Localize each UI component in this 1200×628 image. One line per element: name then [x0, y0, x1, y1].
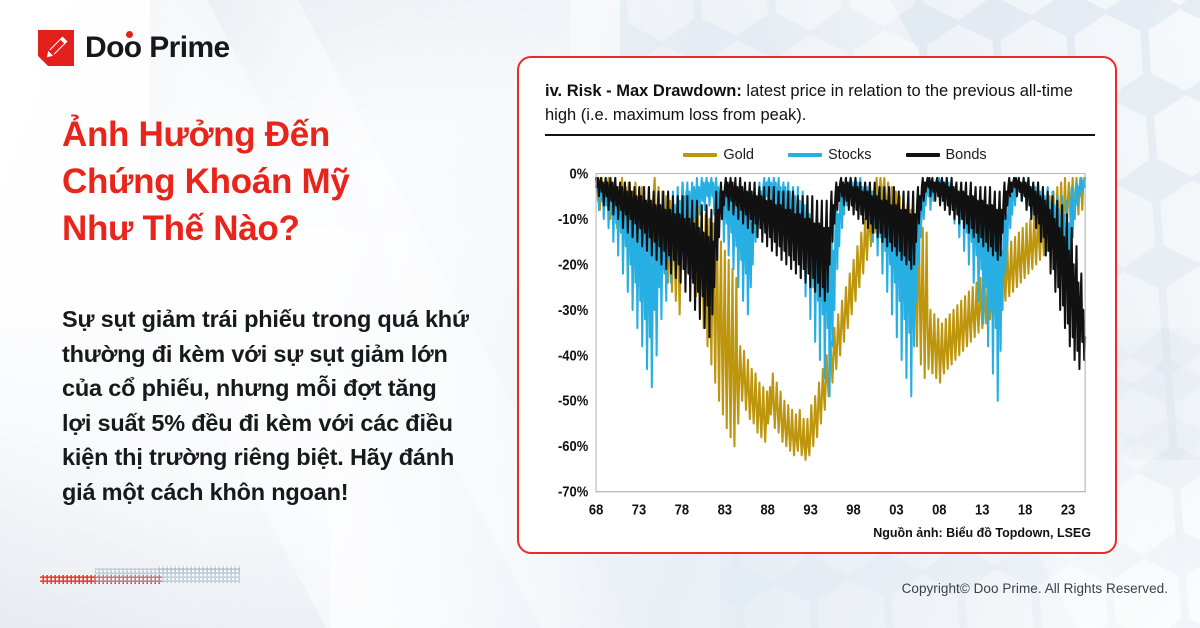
- chart-card: iv. Risk - Max Drawdown: latest price in…: [517, 56, 1117, 554]
- chart-title-prefix: iv. Risk - Max Drawdown:: [545, 82, 742, 100]
- svg-text:83: 83: [718, 502, 733, 518]
- body-paragraph: Sự sụt giảm trái phiếu trong quá khứ thư…: [62, 302, 472, 509]
- chart-title: iv. Risk - Max Drawdown: latest price in…: [545, 80, 1095, 136]
- svg-text:23: 23: [1061, 502, 1076, 518]
- svg-text:08: 08: [932, 502, 947, 518]
- svg-text:88: 88: [760, 502, 775, 518]
- svg-text:18: 18: [1018, 502, 1033, 518]
- legend-label-gold: Gold: [723, 147, 754, 163]
- headline-line-1: Ảnh Hưởng Đến: [62, 112, 482, 159]
- legend-label-bonds: Bonds: [946, 147, 987, 163]
- chart-legend: Gold Stocks Bonds: [545, 147, 1095, 163]
- headline-line-3: Như Thế Nào?: [62, 206, 482, 253]
- nib-glyph-icon: [38, 30, 74, 66]
- svg-text:98: 98: [846, 502, 861, 518]
- svg-text:-60%: -60%: [558, 438, 588, 454]
- svg-text:-50%: -50%: [558, 393, 588, 409]
- svg-text:03: 03: [889, 502, 904, 518]
- svg-text:-30%: -30%: [558, 302, 588, 318]
- svg-text:-70%: -70%: [558, 484, 588, 500]
- doo-prime-mark-icon: [38, 30, 74, 66]
- legend-item-bonds[interactable]: Bonds: [906, 147, 987, 163]
- copyright-text: Copyright© Doo Prime. All Rights Reserve…: [902, 581, 1168, 596]
- svg-text:68: 68: [589, 502, 604, 518]
- svg-text:13: 13: [975, 502, 990, 518]
- svg-text:-20%: -20%: [558, 257, 588, 273]
- legend-label-stocks: Stocks: [828, 147, 872, 163]
- chart-source-note: Nguồn ảnh: Biểu đồ Topdown, LSEG: [545, 526, 1095, 540]
- legend-item-gold[interactable]: Gold: [683, 147, 754, 163]
- halftone-dot-bar-decoration: [40, 566, 240, 592]
- brand-logo-text: Doo Prime: [85, 31, 230, 65]
- svg-text:73: 73: [632, 502, 647, 518]
- svg-text:-10%: -10%: [558, 211, 588, 227]
- legend-swatch-gold-icon: [683, 153, 717, 157]
- headline-line-2: Chứng Khoán Mỹ: [62, 159, 482, 206]
- legend-item-stocks[interactable]: Stocks: [788, 147, 872, 163]
- svg-text:0%: 0%: [569, 167, 588, 182]
- brand-logo[interactable]: Doo Prime: [38, 30, 230, 66]
- legend-swatch-stocks-icon: [788, 153, 822, 157]
- legend-swatch-bonds-icon: [906, 153, 940, 157]
- svg-text:-40%: -40%: [558, 348, 588, 364]
- brand-logo-dot-icon: [126, 31, 133, 38]
- svg-text:93: 93: [803, 502, 818, 518]
- chart-plot-area: 0%-10%-20%-30%-40%-50%-60%-70%6873788388…: [545, 167, 1095, 524]
- svg-text:78: 78: [675, 502, 690, 518]
- page-title: Ảnh Hưởng Đến Chứng Khoán Mỹ Như Thế Nào…: [62, 112, 482, 253]
- drawdown-line-chart: 0%-10%-20%-30%-40%-50%-60%-70%6873788388…: [545, 167, 1095, 524]
